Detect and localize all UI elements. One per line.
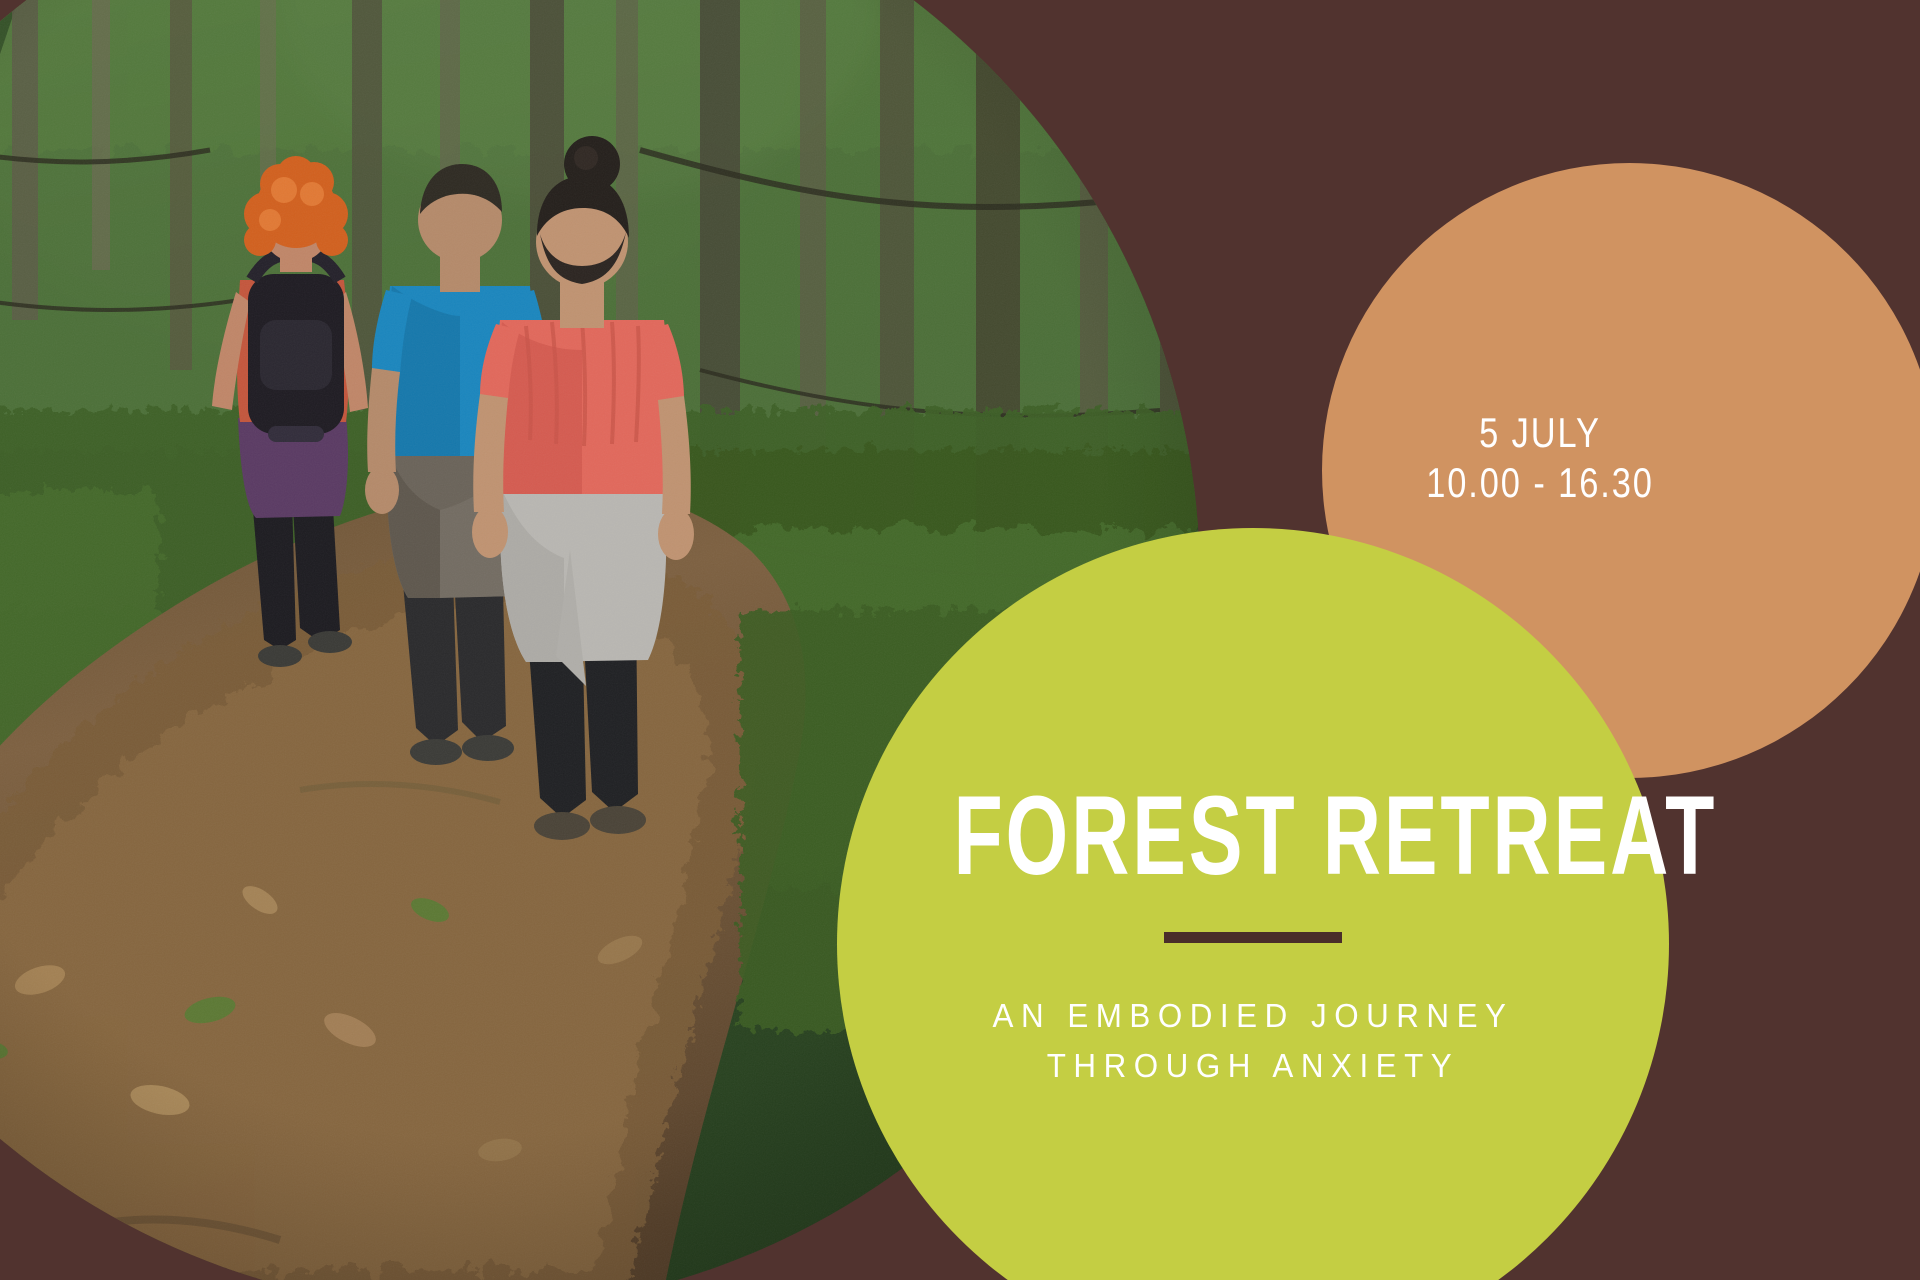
- event-poster: 5 JULY 10.00 - 16.30 FOREST RETREAT AN E…: [0, 0, 1920, 1280]
- event-time-range: 10.00 - 16.30: [1368, 458, 1712, 508]
- event-title: FOREST RETREAT: [953, 780, 1552, 892]
- event-text-block: FOREST RETREAT AN EMBODIED JOURNEY THROU…: [837, 780, 1669, 1090]
- event-subtitle: AN EMBODIED JOURNEY THROUGH ANXIETY: [858, 991, 1648, 1090]
- event-subtitle-line-1: AN EMBODIED JOURNEY: [858, 991, 1648, 1041]
- event-date: 5 JULY: [1368, 408, 1712, 458]
- event-date-block: 5 JULY 10.00 - 16.30: [1368, 408, 1712, 507]
- event-subtitle-line-2: THROUGH ANXIETY: [858, 1041, 1648, 1091]
- title-divider: [1164, 932, 1342, 943]
